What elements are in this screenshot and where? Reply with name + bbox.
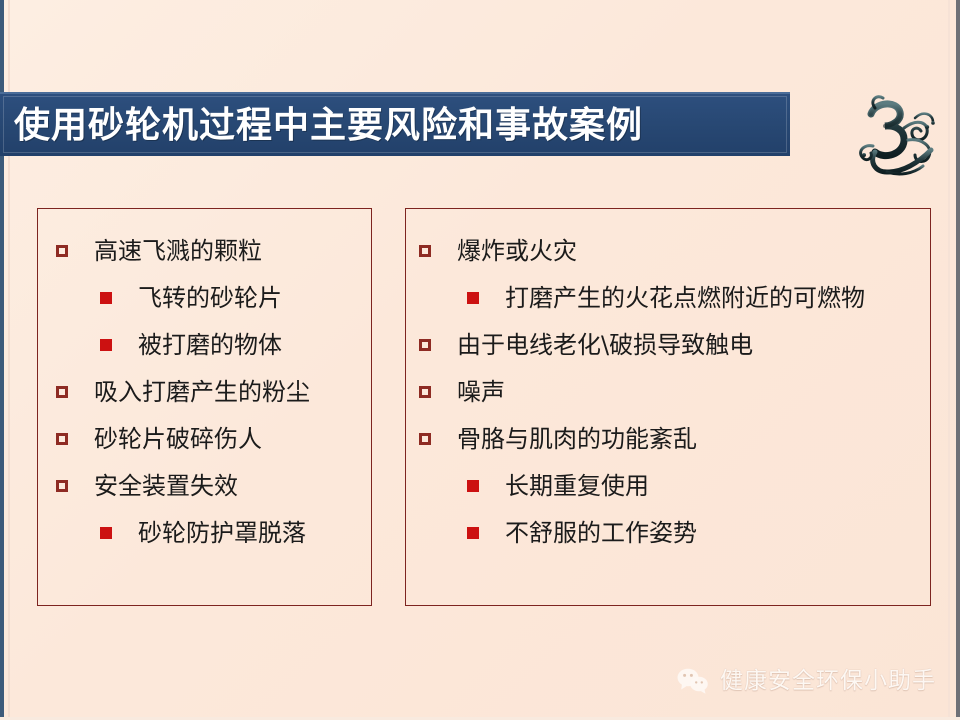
hollow-square-bullet-icon [56,245,68,257]
hollow-square-bullet-icon [419,339,431,351]
hollow-square-bullet-icon [56,480,68,492]
slide-title-banner: 使用砂轮机过程中主要风险和事故案例 [0,92,790,156]
filled-square-bullet-icon [467,292,479,304]
hollow-square-bullet-icon [419,386,431,398]
list-item: 骨胳与肌肉的功能紊乱 [406,415,930,462]
filled-square-bullet-icon [100,292,112,304]
filled-square-bullet-icon [467,527,479,539]
list-item-label: 被打磨的物体 [138,333,282,357]
list-item: 被打磨的物体 [38,321,371,368]
risk-list-box-right: 爆炸或火灾 打磨产生的火花点燃附近的可燃物 由于电线老化\破损导致触电 噪声 骨… [405,208,931,606]
list-item: 飞转的砂轮片 [38,274,371,321]
list-item: 高速飞溅的颗粒 [38,227,371,274]
list-item: 由于电线老化\破损导致触电 [406,321,930,368]
risk-list-left: 高速飞溅的颗粒 飞转的砂轮片 被打磨的物体 吸入打磨产生的粉尘 砂轮片破碎伤人 … [38,209,371,556]
list-item-label: 噪声 [457,380,505,404]
list-item-label: 骨胳与肌肉的功能紊乱 [457,427,697,451]
list-item: 安全装置失效 [38,462,371,509]
list-item: 爆炸或火灾 [406,227,930,274]
right-edge-rail [956,0,960,720]
hollow-square-bullet-icon [56,386,68,398]
list-item-label: 爆炸或火灾 [457,239,577,263]
list-item-label: 飞转的砂轮片 [138,286,282,310]
footer-watermark: 健康安全环保小助手 [676,666,936,696]
risk-list-right: 爆炸或火灾 打磨产生的火花点燃附近的可燃物 由于电线老化\破损导致触电 噪声 骨… [406,209,930,556]
list-item: 打磨产生的火花点燃附近的可燃物 [406,274,930,321]
page-title: 使用砂轮机过程中主要风险和事故案例 [0,107,643,143]
list-item: 不舒服的工作姿势 [406,509,930,556]
list-item-label: 不舒服的工作姿势 [505,521,697,545]
list-item-label: 打磨产生的火花点燃附近的可燃物 [505,286,865,310]
wechat-icon [676,666,710,696]
list-item: 砂轮防护罩脱落 [38,509,371,556]
list-item-label: 高速飞溅的颗粒 [94,239,262,263]
watermark-label: 健康安全环保小助手 [720,670,936,693]
list-item-label: 由于电线老化\破损导致触电 [457,333,753,357]
list-item: 噪声 [406,368,930,415]
list-item-label: 安全装置失效 [94,474,238,498]
filled-square-bullet-icon [100,339,112,351]
list-item-label: 砂轮片破碎伤人 [94,427,262,451]
list-item: 砂轮片破碎伤人 [38,415,371,462]
hollow-square-bullet-icon [419,433,431,445]
filled-square-bullet-icon [467,480,479,492]
hollow-square-bullet-icon [419,245,431,257]
ornamental-numeral-3-icon [845,88,955,188]
slide-canvas: 使用砂轮机过程中主要风险和事故案例 [0,0,960,720]
list-item-label: 长期重复使用 [505,474,649,498]
hollow-square-bullet-icon [56,433,68,445]
risk-list-box-left: 高速飞溅的颗粒 飞转的砂轮片 被打磨的物体 吸入打磨产生的粉尘 砂轮片破碎伤人 … [37,208,372,606]
list-item-label: 砂轮防护罩脱落 [138,521,306,545]
list-item: 长期重复使用 [406,462,930,509]
list-item: 吸入打磨产生的粉尘 [38,368,371,415]
list-item-label: 吸入打磨产生的粉尘 [94,380,310,404]
filled-square-bullet-icon [100,527,112,539]
